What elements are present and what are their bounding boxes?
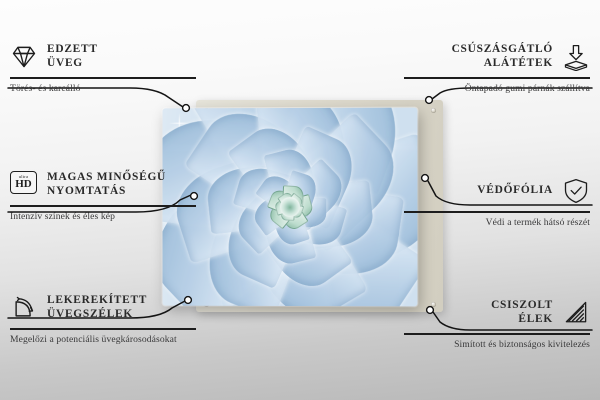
feature-title-line2: ÉLEK bbox=[518, 313, 553, 325]
ultra-hd-icon: ultra HD bbox=[10, 171, 38, 199]
feature-title-line1: LEKEREKÍTETT bbox=[47, 294, 147, 306]
feature-title-line1: CSÚSZÁSGÁTLÓ bbox=[452, 43, 553, 55]
feature-subtitle: Védi a termék hátsó részét bbox=[404, 217, 590, 229]
anti-slip-pad-icon bbox=[562, 43, 590, 71]
feature-title-line1: EDZETT bbox=[47, 43, 98, 55]
feature-tempered-glass: EDZETT ÜVEG Törés- és karcálló bbox=[10, 40, 196, 95]
ultra-hd-large-label: HD bbox=[15, 179, 32, 190]
feature-title-line1: VÉDŐFÓLIA bbox=[477, 184, 553, 196]
feature-title-line2: ÜVEGSZÉLEK bbox=[47, 308, 133, 320]
shield-check-icon bbox=[562, 177, 590, 205]
feature-divider bbox=[404, 77, 590, 79]
feature-subtitle: Intenzív színek és éles kép bbox=[10, 211, 196, 223]
feature-polished-edges: CSISZOLT ÉLEK Simított és biztonságos ki… bbox=[404, 296, 590, 351]
feature-anti-slip-pads: CSÚSZÁSGÁTLÓ ALÁTÉTEK Öntapadó gumi párn… bbox=[404, 40, 590, 95]
feature-subtitle: Törés- és karcálló bbox=[10, 83, 196, 95]
feature-title-line1: CSISZOLT bbox=[491, 299, 553, 311]
feature-subtitle: Simított és biztonságos kivitelezés bbox=[404, 339, 590, 351]
feature-subtitle: Megelőzi a potenciális üvegkárosodásokat bbox=[10, 334, 196, 346]
feature-rounded-edges: LEKEREKÍTETT ÜVEGSZÉLEK Megelőzi a poten… bbox=[10, 291, 196, 346]
succulent-artwork bbox=[163, 108, 418, 307]
feature-title-line1: MAGAS MINŐSÉGŰ bbox=[47, 171, 166, 183]
polished-edge-icon bbox=[562, 299, 590, 327]
feature-divider bbox=[404, 333, 590, 335]
feature-divider bbox=[10, 328, 196, 330]
feature-title-line2: ÜVEG bbox=[47, 57, 83, 69]
mounting-screw-top-right bbox=[431, 108, 436, 113]
glass-board bbox=[163, 108, 418, 307]
feature-title-line2: ALÁTÉTEK bbox=[484, 57, 553, 69]
feature-divider bbox=[404, 211, 590, 213]
feature-hq-printing: ultra HD MAGAS MINŐSÉGŰ NYOMTATÁS Intenz… bbox=[10, 168, 196, 223]
rounded-corner-icon bbox=[10, 294, 38, 322]
succulent-core bbox=[280, 197, 300, 217]
feature-protective-film: VÉDŐFÓLIA Védi a termék hátsó részét bbox=[404, 174, 590, 229]
feature-title-line2: NYOMTATÁS bbox=[47, 185, 126, 197]
diamond-icon bbox=[10, 43, 38, 71]
feature-subtitle: Öntapadó gumi párnák szállítva bbox=[404, 83, 590, 95]
feature-divider bbox=[10, 205, 196, 207]
feature-divider bbox=[10, 77, 196, 79]
